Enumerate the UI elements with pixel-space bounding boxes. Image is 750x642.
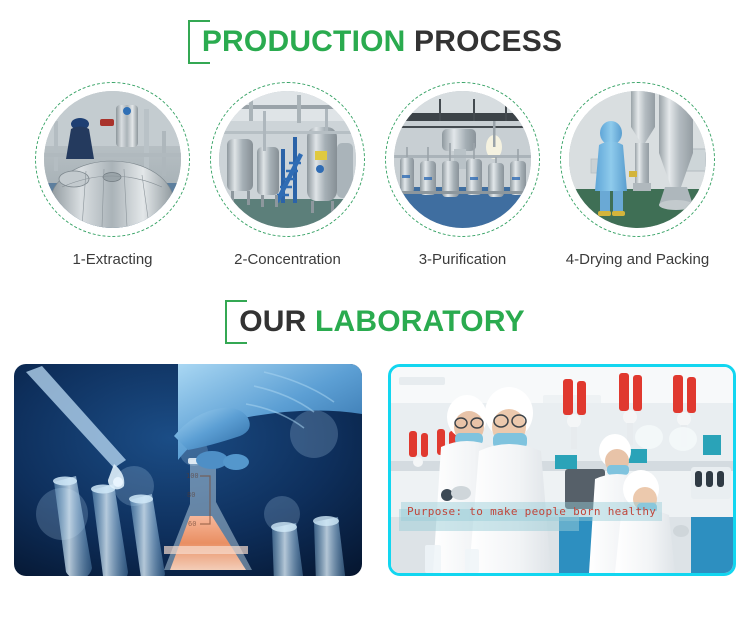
process-step-1-label: 1-Extracting xyxy=(72,251,152,268)
our-laboratory-heading: OUR LABORATORY xyxy=(0,294,750,350)
section-title: OUR LABORATORY xyxy=(239,305,525,338)
page-title: PRODUCTION PROCESS xyxy=(202,25,562,58)
heading-green-part: PRODUCTION xyxy=(202,25,406,58)
process-step-2-label: 2-Concentration xyxy=(234,251,341,268)
process-step-3-photo xyxy=(394,91,531,228)
svg-text:80: 80 xyxy=(187,491,195,499)
process-step-4-photo xyxy=(569,91,706,228)
process-step-2-photo xyxy=(219,91,356,228)
page-root: PRODUCTION PROCESS xyxy=(0,14,750,642)
circle-wrapper xyxy=(560,82,715,237)
process-steps-row: 1-Extracting xyxy=(0,82,750,268)
laboratory-photo-1[interactable]: 1008060 xyxy=(14,364,362,576)
heading-inner: OUR LABORATORY xyxy=(225,307,525,337)
process-step-1[interactable]: 1-Extracting xyxy=(30,82,195,268)
heading-dark-part: PROCESS xyxy=(406,25,563,58)
laboratory-photo-2-caption: Purpose: to make people born healthy xyxy=(401,502,662,521)
production-process-heading: PRODUCTION PROCESS xyxy=(0,14,750,70)
heading-inner: PRODUCTION PROCESS xyxy=(188,27,562,57)
process-step-3-label: 3-Purification xyxy=(419,251,507,268)
circle-wrapper xyxy=(210,82,365,237)
heading-dark-part: OUR xyxy=(239,305,315,338)
process-step-4-label: 4-Drying and Packing xyxy=(566,251,709,268)
circle-wrapper xyxy=(35,82,190,237)
heading-green-part: LABORATORY xyxy=(315,305,525,338)
process-step-1-photo xyxy=(44,91,181,228)
process-step-3[interactable]: 3-Purification xyxy=(380,82,545,268)
laboratory-photo-2[interactable]: Purpose: to make people born healthy xyxy=(388,364,736,576)
process-step-4[interactable]: 4-Drying and Packing xyxy=(555,82,720,268)
process-step-2[interactable]: 2-Concentration xyxy=(205,82,370,268)
svg-text:100: 100 xyxy=(186,472,199,480)
laboratory-photos-row: 1008060 xyxy=(0,364,750,576)
circle-wrapper xyxy=(385,82,540,237)
svg-text:60: 60 xyxy=(188,520,196,528)
